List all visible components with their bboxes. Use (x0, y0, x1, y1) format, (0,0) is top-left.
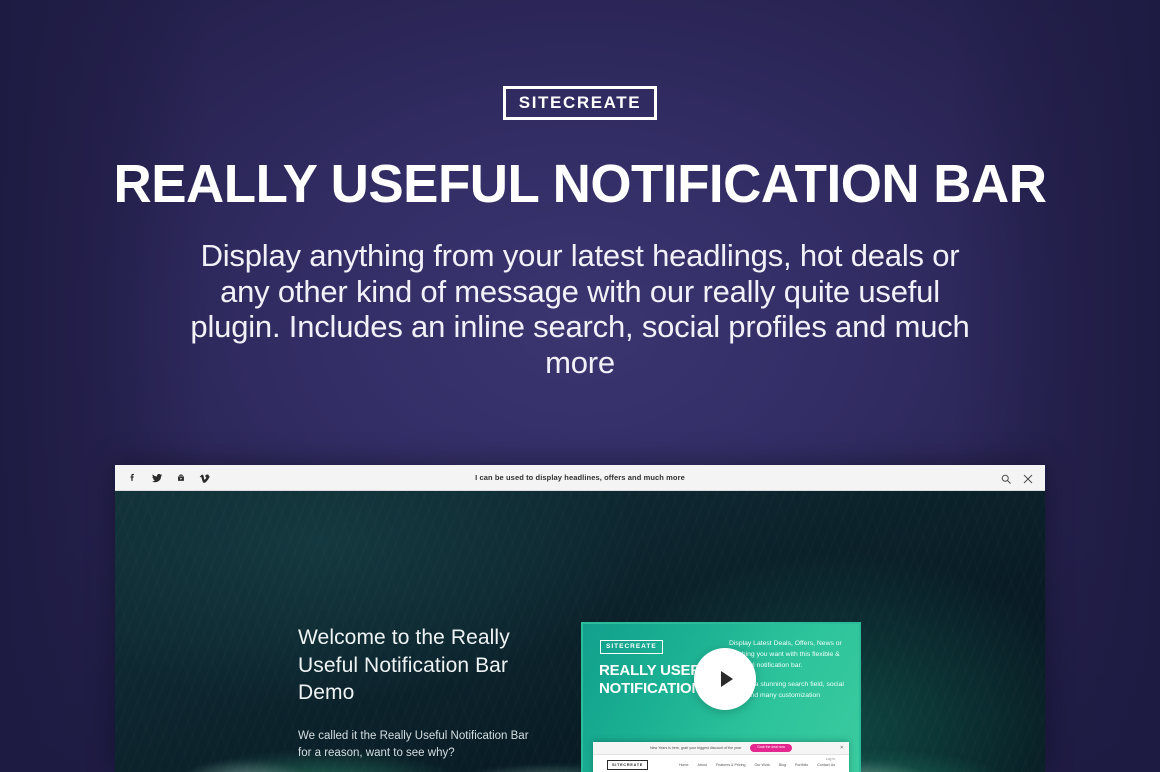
play-button[interactable] (694, 648, 756, 710)
inner-nav-item-4[interactable]: Blog (779, 763, 786, 767)
close-icon[interactable] (1022, 472, 1034, 484)
notification-actions (1000, 472, 1034, 484)
notification-social-list (126, 471, 211, 484)
brand-logo-wrap: SITECREATE (0, 86, 1160, 120)
inner-nav-item-3[interactable]: Our Work (755, 763, 770, 767)
inner-nav-item-1[interactable]: About (698, 763, 707, 767)
facebook-icon[interactable] (126, 471, 139, 484)
site-hero-photo: Welcome to the Really Useful Notificatio… (115, 491, 1045, 772)
reef-highlight-texture (115, 714, 1045, 772)
youtube-icon[interactable] (174, 471, 187, 484)
inner-navbar: SITECREATE Home About Features & Pricing… (593, 755, 849, 772)
inner-login-link[interactable]: Log in (826, 757, 835, 761)
site-hero-paragraph: We called it the Really Useful Notificat… (298, 728, 538, 763)
hero-section: SITECREATE REALLY USEFUL NOTIFICATION BA… (0, 0, 1160, 381)
site-hero-heading: Welcome to the Really Useful Notificatio… (298, 624, 538, 707)
site-hero-copy: Welcome to the Really Useful Notificatio… (298, 624, 538, 763)
brand-logo: SITECREATE (503, 86, 657, 120)
page-title: REALLY USEFUL NOTIFICATION BAR (12, 157, 1149, 211)
inner-nav-item-2[interactable]: Features & Pricing (716, 763, 746, 767)
inner-nav-menu: Home About Features & Pricing Our Work B… (679, 763, 835, 767)
inner-nav-item-6[interactable]: Contact Us (817, 763, 835, 767)
inner-notification-message: New Years is here, grab your biggest dis… (650, 746, 741, 750)
inner-close-icon[interactable]: ✕ (840, 745, 844, 751)
notification-message: I can be used to display headlines, offe… (115, 473, 1045, 482)
notification-bar: I can be used to display headlines, offe… (115, 465, 1045, 491)
inner-notification-bar: New Years is here, grab your biggest dis… (593, 742, 849, 755)
site-mockup: I can be used to display headlines, offe… (115, 465, 1045, 772)
inner-nav-item-5[interactable]: Portfolio (795, 763, 808, 767)
inner-brand-logo: SITECREATE (607, 760, 648, 770)
video-card-logo: SITECREATE (600, 640, 663, 654)
vimeo-icon[interactable] (198, 471, 211, 484)
inner-browser-mockup: New Years is here, grab your biggest dis… (593, 742, 849, 772)
search-icon[interactable] (1000, 472, 1012, 484)
twitter-icon[interactable] (150, 471, 163, 484)
play-triangle-icon (721, 671, 733, 687)
inner-nav-item-0[interactable]: Home (679, 763, 689, 767)
inner-cta-button[interactable]: Grab the deal now (750, 744, 792, 751)
hero-subtitle: Display anything from your latest headli… (185, 238, 975, 381)
